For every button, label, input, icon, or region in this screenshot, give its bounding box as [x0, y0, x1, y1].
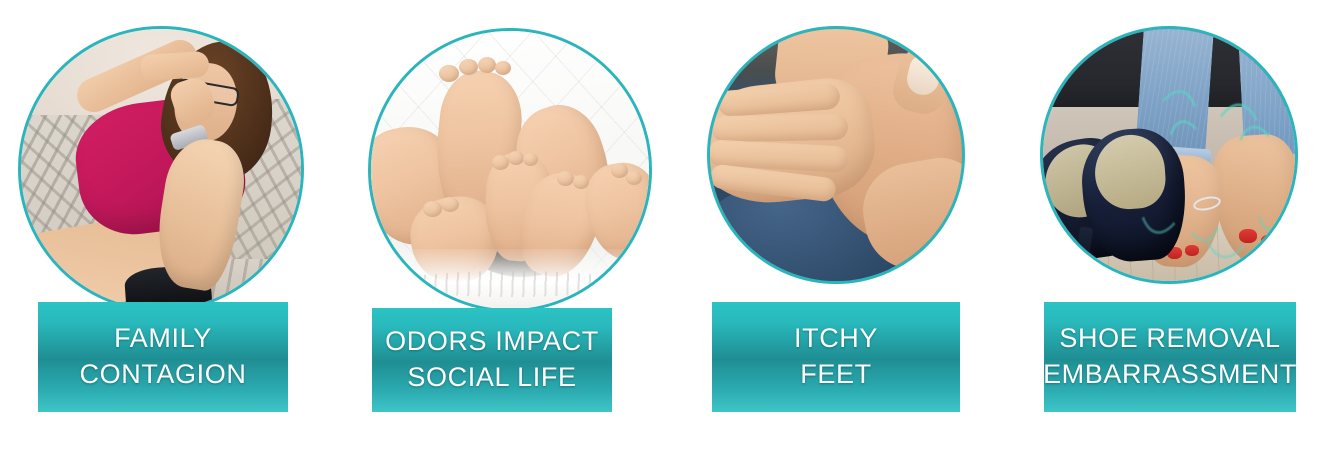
- toe: [423, 201, 442, 217]
- label-text: FAMILY CONTAGION: [76, 321, 251, 392]
- toe: [523, 153, 538, 166]
- label-banner-shoe-removal[interactable]: SHOE REMOVAL EMBARRASSMENT: [1044, 302, 1296, 412]
- toe: [573, 175, 589, 189]
- toe: [492, 155, 509, 170]
- label-text: ODORS IMPACT SOCIAL LIFE: [381, 324, 603, 395]
- toe: [478, 57, 496, 73]
- label-text: ITCHY FEET: [790, 321, 882, 392]
- photo-shoe-removal-embarrassment: [1040, 26, 1298, 284]
- toe: [459, 59, 478, 75]
- toe: [495, 61, 511, 75]
- bedding-stitching: [391, 271, 631, 297]
- label-text: SHOE REMOVAL EMBARRASSMENT: [1039, 321, 1301, 392]
- label-banner-odors-social-life[interactable]: ODORS IMPACT SOCIAL LIFE: [372, 308, 612, 412]
- label-banner-itchy-feet[interactable]: ITCHY FEET: [712, 302, 960, 412]
- toe: [439, 65, 459, 82]
- infographic-board: FAMILY CONTAGION: [0, 0, 1342, 449]
- photo-family-contagion: [18, 26, 304, 312]
- finger: [712, 114, 848, 142]
- toe: [557, 171, 574, 186]
- waving-hand: [140, 51, 210, 82]
- toe: [626, 171, 642, 185]
- toenail: [1185, 245, 1199, 256]
- photo-itchy-feet: [707, 26, 965, 284]
- label-banner-family-contagion[interactable]: FAMILY CONTAGION: [38, 302, 288, 412]
- photo-odors-social-life: [368, 28, 652, 312]
- toe: [508, 151, 524, 165]
- toe: [441, 197, 459, 212]
